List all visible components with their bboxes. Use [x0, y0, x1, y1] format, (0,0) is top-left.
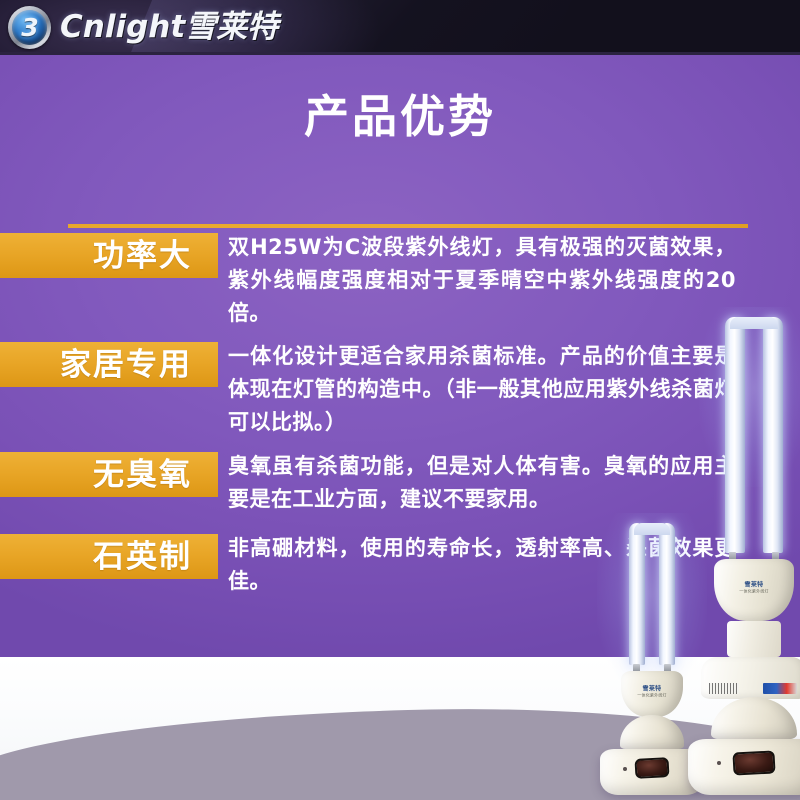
feature-label-text: 石英制: [93, 540, 192, 574]
feature-body-text: 双H25W为C波段紫外线灯，具有极强的灭菌效果，紫外线幅度强度相对于夏季晴空中紫…: [228, 231, 736, 330]
uv-tube-right: [659, 523, 675, 665]
lamp-collar-housing: [701, 657, 800, 699]
lamp-base-housing: [688, 739, 800, 795]
page-title: 产品优势: [0, 89, 800, 145]
lamp-certification-sticker: [763, 683, 797, 694]
uv-tube-left: [725, 317, 745, 553]
lamp-indicator-led-icon: [717, 761, 721, 765]
uv-tube-icon: [629, 523, 675, 665]
lamp-badge-mark: 雪莱特: [739, 581, 768, 588]
logo-glyph-text: 3: [21, 15, 37, 40]
product-advantages-banner: 3 Cnlight雪莱特 产品优势 功率大 双H25W为C波段紫外线灯，具有极强…: [0, 0, 800, 800]
lamp-neck-housing: [727, 621, 781, 657]
feature-label-text: 功率大: [93, 239, 192, 273]
lamp-dome-housing: [711, 697, 797, 739]
uv-tube-icon: [725, 317, 783, 553]
lamp-head-housing: 雪莱特 一体化紫外线灯: [621, 671, 683, 717]
feature-label-badge: 家居专用: [0, 342, 218, 387]
feature-label-text: 无臭氧: [93, 458, 192, 492]
feature-label-text: 家居专用: [60, 348, 192, 382]
product-photo-group: 雪莱特 一体化紫外线灯 雪莱特 一体化紫外线: [596, 395, 800, 795]
lamp-indicator-led-icon: [623, 767, 627, 771]
lamp-brand-badge: 雪莱特 一体化紫外线灯: [637, 686, 666, 699]
uv-tube-bridge: [730, 317, 778, 329]
feature-label-badge: 石英制: [0, 534, 218, 579]
brand-name: Cnlight雪莱特: [60, 7, 278, 48]
lamp-power-switch[interactable]: [634, 757, 669, 779]
lamp-barcode-label: [709, 683, 739, 694]
cnlight-circular-logo-icon: 3: [8, 6, 51, 49]
lamp-head-housing: 雪莱特 一体化紫外线灯: [714, 559, 794, 621]
uv-tube-bridge: [634, 523, 670, 535]
brand-header: 3 Cnlight雪莱特: [0, 0, 800, 55]
lamp-brand-badge: 雪莱特 一体化紫外线灯: [739, 581, 768, 594]
lamp-badge-mark: 雪莱特: [637, 686, 666, 693]
lamp-dome-housing: [620, 715, 684, 749]
lamp-power-switch[interactable]: [732, 750, 775, 775]
top-orange-divider: [68, 224, 748, 228]
feature-label-badge: 无臭氧: [0, 452, 218, 497]
feature-label-badge: 功率大: [0, 233, 218, 278]
lamp-badge-sub: 一体化紫外线灯: [637, 693, 666, 699]
uv-tube-left: [629, 523, 645, 665]
uv-lamp-large-product-image: 雪莱特 一体化紫外线灯: [688, 317, 800, 795]
lamp-badge-sub: 一体化紫外线灯: [739, 588, 768, 594]
uv-tube-right: [763, 317, 783, 553]
